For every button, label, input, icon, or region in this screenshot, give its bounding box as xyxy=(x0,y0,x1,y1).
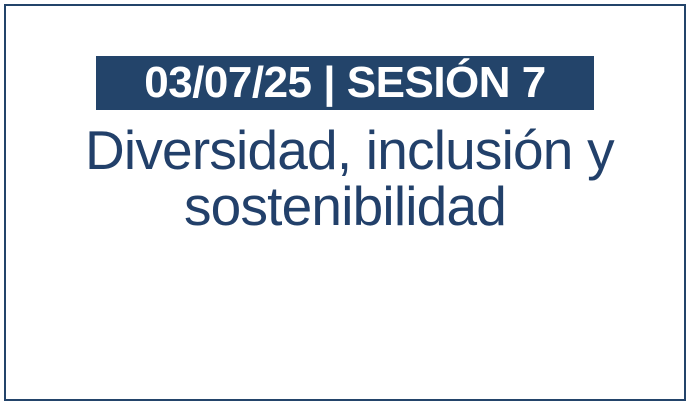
page-title-line-2: sostenibilidad xyxy=(85,178,605,234)
session-badge-label: 03/07/25 | SESIÓN 7 xyxy=(144,61,546,105)
page-title: Diversidad, inclusión y sostenibilidad xyxy=(85,122,605,234)
slide-card: 03/07/25 | SESIÓN 7 Diversidad, inclusió… xyxy=(4,4,686,401)
slide-content: 03/07/25 | SESIÓN 7 Diversidad, inclusió… xyxy=(6,6,684,399)
page-title-line-1: Diversidad, inclusión y xyxy=(85,122,605,178)
session-badge: 03/07/25 | SESIÓN 7 xyxy=(96,56,594,110)
